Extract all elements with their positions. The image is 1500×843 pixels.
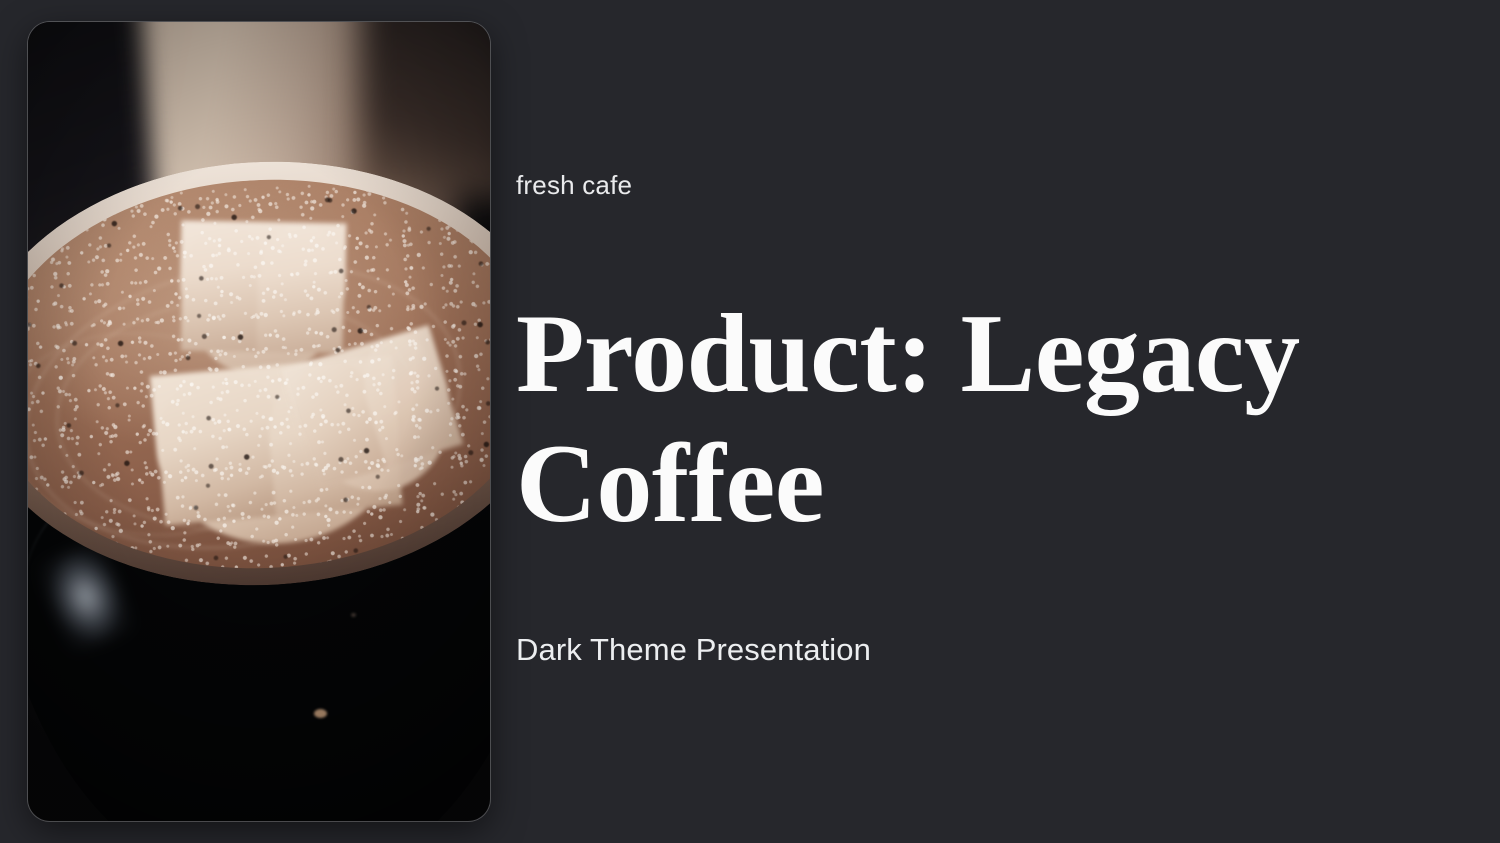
- slide-subtitle: Dark Theme Presentation: [516, 632, 871, 668]
- photo-vignette: [28, 22, 490, 821]
- presentation-slide: fresh cafe Product: Legacy Coffee Dark T…: [0, 0, 1500, 843]
- latte-coffee-cup-photo: [28, 22, 490, 821]
- slide-title: Product: Legacy Coffee: [516, 290, 1376, 550]
- slide-image-card: [28, 22, 490, 821]
- slide-eyebrow: fresh cafe: [516, 170, 632, 201]
- slide-text-column: fresh cafe Product: Legacy Coffee Dark T…: [516, 0, 1416, 843]
